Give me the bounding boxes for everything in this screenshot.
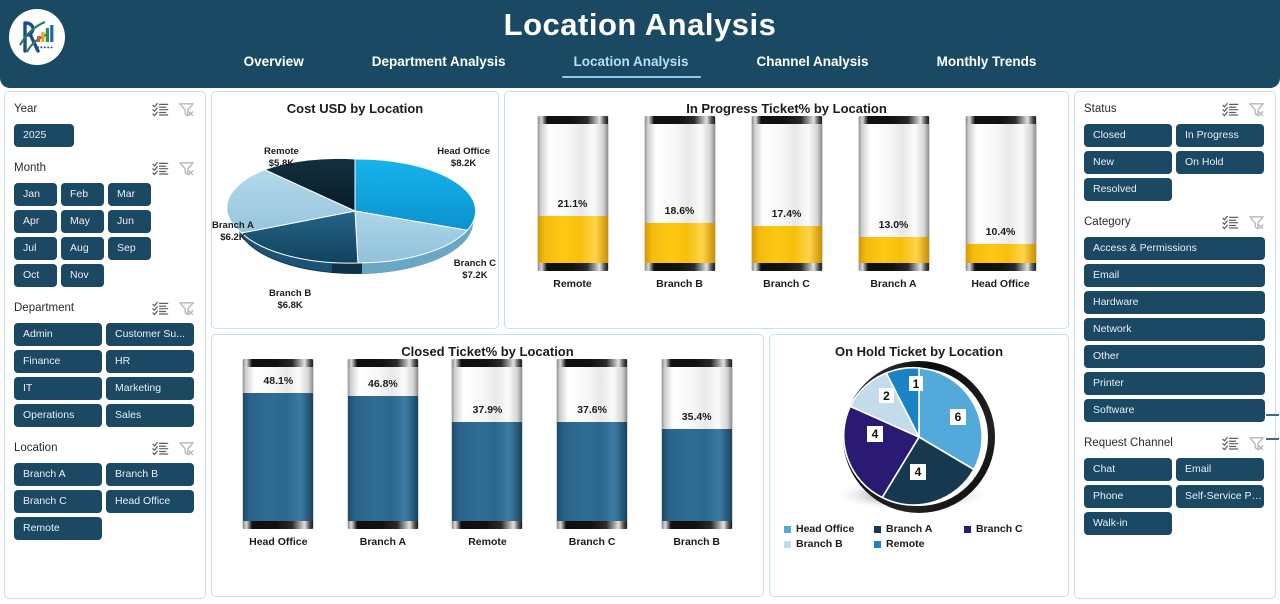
clear-filter-icon[interactable] (177, 440, 196, 457)
app-header: Location Analysis Overview Department An… (0, 0, 1280, 88)
filter-chip-on-hold[interactable]: On Hold (1176, 151, 1264, 174)
on-hold-legend: Head OfficeBranch ABranch CBranch BRemot… (770, 519, 1068, 550)
filter-chip-head-office[interactable]: Head Office (106, 490, 194, 513)
cylinder-bar[interactable]: 46.8% (347, 359, 419, 529)
cylinder-value-label: 35.4% (662, 411, 732, 423)
right-filter-sidebar: Status ClosedIn ProgressNewOn HoldResolv… (1074, 91, 1276, 599)
legend-item-branch-a[interactable]: Branch A (874, 523, 964, 535)
filter-chip-sep[interactable]: Sep (108, 237, 151, 260)
multi-select-icon[interactable] (151, 440, 170, 457)
legend-item-head-office[interactable]: Head Office (784, 523, 874, 535)
filter-chip-email[interactable]: Email (1084, 264, 1265, 287)
filter-chip-list: AdminCustomer Su...FinanceHRITMarketingO… (14, 323, 196, 427)
multi-select-icon[interactable] (1221, 435, 1240, 452)
pie-label-remote: Remote $5.8K (264, 146, 299, 170)
cylinder-bar-item[interactable]: 18.6%Branch B (644, 116, 716, 290)
filter-header: Status (1084, 99, 1266, 119)
charts-row-bottom: Closed Ticket% by Location 48.1%Head Off… (211, 334, 1069, 597)
cylinder-bar[interactable]: 18.6% (644, 116, 716, 271)
onhold-value-branch-a: 4 (915, 465, 922, 479)
cylinder-bar[interactable]: 17.4% (751, 116, 823, 271)
cylinder-bar-item[interactable]: 35.4%Branch B (661, 359, 733, 548)
cylinder-bar[interactable]: 37.6% (556, 359, 628, 529)
filter-chip-may[interactable]: May (61, 210, 104, 233)
cylinder-category-label: Branch C (569, 536, 616, 548)
filter-group-status: Status ClosedIn ProgressNewOn HoldResolv… (1075, 92, 1275, 205)
cylinder-bar[interactable]: 13.0% (858, 116, 930, 271)
filter-chip-list: ChatEmailPhoneSelf-Service Po...Walk-in (1084, 458, 1266, 535)
legend-swatch (874, 541, 881, 548)
cylinder-value-label: 48.1% (243, 375, 313, 387)
scroll-tick (1266, 414, 1279, 416)
cylinder-bottom-cap (645, 263, 715, 271)
cylinder-bar-item[interactable]: 37.6%Branch C (556, 359, 628, 548)
legend-label: Branch A (886, 523, 932, 535)
tab-overview[interactable]: Overview (210, 54, 338, 78)
cylinder-top-cap (966, 116, 1036, 124)
closed-ticket-pct-card[interactable]: Closed Ticket% by Location 48.1%Head Off… (211, 334, 764, 597)
cylinder-bar[interactable]: 10.4% (965, 116, 1037, 271)
on-hold-chart-title: On Hold Ticket by Location (770, 335, 1068, 359)
cylinder-top-cap (348, 359, 418, 367)
filter-chip-branch-b[interactable]: Branch B (106, 463, 194, 486)
cylinder-category-label: Remote (553, 278, 592, 290)
cylinder-category-label: Branch A (870, 278, 916, 290)
cylinder-value-label: 37.6% (557, 404, 627, 416)
closed-ticket-chart-title: Closed Ticket% by Location (212, 335, 763, 359)
filter-chip-feb[interactable]: Feb (61, 183, 104, 206)
filter-chip-self-service-po[interactable]: Self-Service Po... (1176, 485, 1264, 508)
filter-chip-list: JanFebMarAprMayJunJulAugSepOctNov (14, 183, 196, 287)
filter-chip-finance[interactable]: Finance (14, 350, 102, 373)
cylinder-top-cap (557, 359, 627, 367)
legend-label: Head Office (796, 523, 854, 535)
cylinder-bar-item[interactable]: 10.4%Head Office (965, 116, 1037, 290)
filter-chip-list: 2025 (14, 124, 196, 147)
cylinder-category-label: Branch C (763, 278, 810, 290)
on-hold-ticket-card[interactable]: On Hold Ticket by Location (769, 334, 1069, 597)
legend-label: Branch C (976, 523, 1023, 535)
cost-usd-by-location-card[interactable]: Cost USD by Location (211, 91, 499, 329)
filter-header: Department (14, 298, 196, 318)
closed-ticket-cylinder-chart[interactable]: 48.1%Head Office46.8%Branch A37.9%Remote… (212, 359, 763, 548)
filter-chip-jun[interactable]: Jun (108, 210, 151, 233)
legend-item-branch-c[interactable]: Branch C (964, 523, 1054, 535)
onhold-value-branch-b: 2 (883, 389, 890, 403)
cylinder-category-label: Branch B (673, 536, 720, 548)
cylinder-bottom-cap (662, 521, 732, 529)
clear-filter-icon[interactable] (177, 300, 196, 317)
multi-select-icon[interactable] (1221, 214, 1240, 231)
on-hold-pie-svg: 6 4 4 2 1 (770, 359, 1068, 519)
cylinder-value-label: 18.6% (645, 205, 715, 217)
filter-chip-list: ClosedIn ProgressNewOn HoldResolved (1084, 124, 1266, 201)
filter-chip-branch-c[interactable]: Branch C (14, 490, 102, 513)
charts-row-top: Cost USD by Location (211, 91, 1069, 329)
cylinder-bar-item[interactable]: 21.1%Remote (537, 116, 609, 290)
filter-chip-oct[interactable]: Oct (14, 264, 57, 287)
filter-group-location: Location Branch ABranch BBranch CHead Of… (5, 431, 205, 544)
multi-select-icon[interactable] (151, 300, 170, 317)
filter-chip-2025[interactable]: 2025 (14, 124, 74, 147)
filter-header: Category (1084, 212, 1266, 232)
charts-area: Cost USD by Location (210, 91, 1070, 599)
cylinder-bar[interactable]: 37.9% (451, 359, 523, 529)
cylinder-bottom-cap (557, 521, 627, 529)
pie-label-branch-a: Branch A $6.2K (212, 220, 254, 244)
filter-group-department: Department AdminCustomer Su...FinanceHRI… (5, 291, 205, 431)
cylinder-bar-item[interactable]: 13.0%Branch A (858, 116, 930, 290)
cylinder-top-cap (538, 116, 608, 124)
pie-label-head-office: Head Office $8.2K (437, 146, 490, 170)
cylinder-value-label: 13.0% (859, 219, 929, 231)
cylinder-category-label: Branch A (360, 536, 406, 548)
cost-usd-pie-chart[interactable]: Remote $5.8K Head Office $8.2K Branch A … (212, 116, 498, 306)
cylinder-fill (348, 396, 418, 529)
cost-usd-chart-title: Cost USD by Location (212, 92, 498, 116)
filter-chip-network[interactable]: Network (1084, 318, 1265, 341)
filter-chip-resolved[interactable]: Resolved (1084, 178, 1172, 201)
filter-chip-walk-in[interactable]: Walk-in (1084, 512, 1172, 535)
filter-chip-aug[interactable]: Aug (61, 237, 104, 260)
tab-department-analysis[interactable]: Department Analysis (338, 54, 540, 78)
cylinder-category-label: Remote (468, 536, 507, 548)
filter-chip-operations[interactable]: Operations (14, 404, 102, 427)
cylinder-bar-item[interactable]: 46.8%Branch A (347, 359, 419, 548)
page-title: Location Analysis (0, 2, 1280, 48)
in-progress-cylinder-chart[interactable]: 21.1%Remote18.6%Branch B17.4%Branch C13.… (505, 116, 1068, 290)
filter-chip-software[interactable]: Software (1084, 399, 1265, 422)
cylinder-bar[interactable]: 21.1% (537, 116, 609, 271)
filter-chip-new[interactable]: New (1084, 151, 1172, 174)
filter-title: Status (1084, 103, 1214, 115)
cylinder-bottom-cap (966, 263, 1036, 271)
filter-title: Department (14, 302, 144, 314)
clear-filter-icon[interactable] (177, 101, 196, 118)
filter-chip-other[interactable]: Other (1084, 345, 1265, 368)
cylinder-top-cap (859, 116, 929, 124)
filter-header: Location (14, 438, 196, 458)
legend-swatch (784, 541, 791, 548)
cylinder-bottom-cap (452, 521, 522, 529)
filter-chip-marketing[interactable]: Marketing (106, 377, 194, 400)
cylinder-fill (452, 422, 522, 529)
cylinder-fill (243, 393, 313, 529)
tab-channel-analysis[interactable]: Channel Analysis (723, 54, 903, 78)
filter-chip-sales[interactable]: Sales (106, 404, 194, 427)
cylinder-bottom-cap (538, 263, 608, 271)
cylinder-top-cap (243, 359, 313, 367)
filter-chip-jul[interactable]: Jul (14, 237, 57, 260)
cylinder-bar[interactable]: 35.4% (661, 359, 733, 529)
cylinder-top-cap (645, 116, 715, 124)
cylinder-bar-item[interactable]: 48.1%Head Office (242, 359, 314, 548)
filter-chip-nov[interactable]: Nov (61, 264, 104, 287)
dashboard-body: Year 2025Month JanFebMarAprMayJunJulAugS… (0, 88, 1280, 604)
legend-item-branch-b[interactable]: Branch B (784, 538, 874, 550)
filter-title: Location (14, 442, 144, 454)
filter-chip-chat[interactable]: Chat (1084, 458, 1172, 481)
filter-chip-hr[interactable]: HR (106, 350, 194, 373)
cylinder-value-label: 10.4% (966, 226, 1036, 238)
scroll-indicator[interactable] (1266, 414, 1280, 462)
filter-title: Request Channel (1084, 437, 1214, 449)
filter-header: Month (14, 158, 196, 178)
cylinder-top-cap (662, 359, 732, 367)
filter-title: Year (14, 103, 144, 115)
filter-header: Request Channel (1084, 433, 1266, 453)
cylinder-category-label: Branch B (656, 278, 703, 290)
cylinder-fill (557, 422, 627, 529)
filter-chip-jan[interactable]: Jan (14, 183, 57, 206)
clear-filter-icon[interactable] (1247, 101, 1266, 118)
filter-title: Category (1084, 216, 1214, 228)
filter-chip-in-progress[interactable]: In Progress (1176, 124, 1264, 147)
pie-label-branch-c: Branch C $7.2K (454, 258, 496, 282)
cylinder-bar-item[interactable]: 17.4%Branch C (751, 116, 823, 290)
scroll-tick (1266, 438, 1279, 440)
cylinder-value-label: 46.8% (348, 378, 418, 390)
cylinder-top-cap (752, 116, 822, 124)
pie-label-branch-b: Branch B $6.8K (269, 288, 311, 312)
clear-filter-icon[interactable] (177, 160, 196, 177)
cylinder-bottom-cap (752, 263, 822, 271)
tab-monthly-trends[interactable]: Monthly Trends (903, 54, 1071, 78)
filter-chip-customer-su[interactable]: Customer Su... (106, 323, 194, 346)
filter-header: Year (14, 99, 196, 119)
filter-chip-mar[interactable]: Mar (108, 183, 151, 206)
cylinder-bottom-cap (243, 521, 313, 529)
cylinder-value-label: 17.4% (752, 208, 822, 220)
left-filter-sidebar: Year 2025Month JanFebMarAprMayJunJulAugS… (4, 91, 206, 599)
legend-swatch (964, 526, 971, 533)
filter-chip-closed[interactable]: Closed (1084, 124, 1172, 147)
filter-chip-remote[interactable]: Remote (14, 517, 102, 540)
in-progress-chart-title: In Progress Ticket% by Location (505, 92, 1068, 116)
cylinder-bottom-cap (859, 263, 929, 271)
filter-chip-list: Access & PermissionsEmailHardwareNetwork… (1084, 237, 1266, 422)
filter-chip-list: Branch ABranch BBranch CHead OfficeRemot… (14, 463, 196, 540)
cylinder-value-label: 21.1% (538, 198, 608, 210)
legend-swatch (784, 526, 791, 533)
multi-select-icon[interactable] (1221, 101, 1240, 118)
filter-group-month: Month JanFebMarAprMayJunJulAugSepOctNov (5, 151, 205, 291)
filter-group-year: Year 2025 (5, 92, 205, 151)
legend-label: Remote (886, 538, 925, 550)
filter-group-request-channel: Request Channel ChatEmailPhoneSelf-Servi… (1075, 426, 1275, 539)
cylinder-bar-item[interactable]: 37.9%Remote (451, 359, 523, 548)
filter-chip-apr[interactable]: Apr (14, 210, 57, 233)
filter-chip-access-permissions[interactable]: Access & Permissions (1084, 237, 1265, 260)
cylinder-value-label: 37.9% (452, 404, 522, 416)
clear-filter-icon[interactable] (1247, 214, 1266, 231)
multi-select-icon[interactable] (151, 160, 170, 177)
legend-swatch (874, 526, 881, 533)
clear-filter-icon[interactable] (1247, 435, 1266, 452)
in-progress-ticket-pct-card[interactable]: In Progress Ticket% by Location 21.1%Rem… (504, 91, 1069, 329)
multi-select-icon[interactable] (151, 101, 170, 118)
cylinder-category-label: Head Office (249, 536, 307, 548)
cylinder-category-label: Head Office (971, 278, 1029, 290)
tab-location-analysis[interactable]: Location Analysis (540, 54, 723, 78)
filter-chip-branch-a[interactable]: Branch A (14, 463, 102, 486)
filter-chip-admin[interactable]: Admin (14, 323, 102, 346)
cylinder-bar[interactable]: 48.1% (242, 359, 314, 529)
legend-item-remote[interactable]: Remote (874, 538, 964, 550)
onhold-value-branch-c: 4 (872, 427, 879, 441)
cylinder-top-cap (452, 359, 522, 367)
onhold-value-remote: 1 (913, 377, 920, 391)
main-navigation: Overview Department Analysis Location An… (0, 54, 1280, 78)
filter-chip-printer[interactable]: Printer (1084, 372, 1265, 395)
on-hold-pie-chart[interactable]: 6 4 4 2 1 (770, 359, 1068, 519)
legend-label: Branch B (796, 538, 843, 550)
filter-chip-it[interactable]: IT (14, 377, 102, 400)
filter-chip-phone[interactable]: Phone (1084, 485, 1172, 508)
filter-title: Month (14, 162, 144, 174)
onhold-value-head-office: 6 (955, 410, 962, 424)
filter-group-category: Category Access & PermissionsEmailHardwa… (1075, 205, 1275, 426)
filter-chip-hardware[interactable]: Hardware (1084, 291, 1265, 314)
cylinder-bottom-cap (348, 521, 418, 529)
filter-chip-email[interactable]: Email (1176, 458, 1264, 481)
cylinder-fill (662, 429, 732, 529)
